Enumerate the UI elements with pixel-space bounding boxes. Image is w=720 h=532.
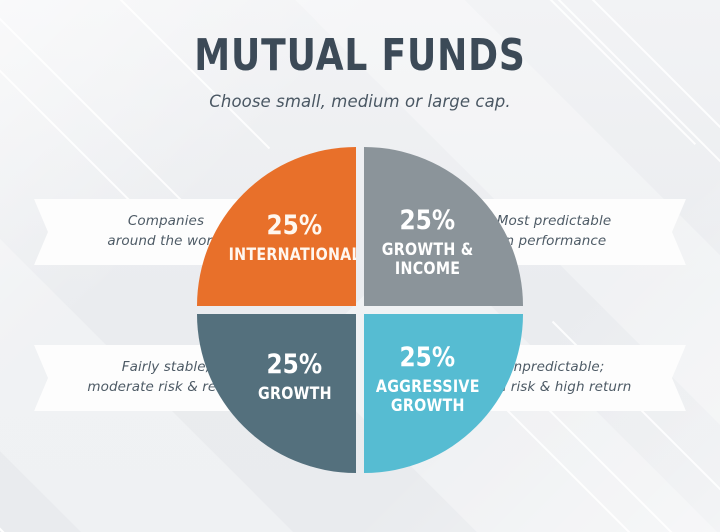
pie-slice-international-percent: 25% xyxy=(267,212,323,239)
pie-slice-international[interactable]: 25% INTERNATIONAL xyxy=(197,147,356,306)
pie-slice-growth-and-income-label: GROWTH & INCOME xyxy=(382,241,474,278)
pie-slice-growth-and-income[interactable]: 25% GROWTH & INCOME xyxy=(364,147,523,306)
pie-slice-aggressive-growth-label: AGGRESSIVE GROWTH xyxy=(376,378,480,415)
pie-slice-international-label: INTERNATIONAL xyxy=(228,246,356,264)
pie-slice-aggressive-growth[interactable]: 25% AGGRESSIVE GROWTH xyxy=(364,314,523,473)
pie-slice-growth-and-income-content: 25% GROWTH & INCOME xyxy=(373,207,482,278)
pie-slice-growth[interactable]: 25% GROWTH xyxy=(197,314,356,473)
pie-slice-aggressive-growth-content: 25% AGGRESSIVE GROWTH xyxy=(366,344,490,415)
pie-slice-growth-percent: 25% xyxy=(267,351,323,378)
page-subtitle: Choose small, medium or large cap. xyxy=(0,92,720,111)
mutual-funds-infographic: MUTUAL FUNDS Choose small, medium or lar… xyxy=(0,0,720,532)
pie-chart: 25% INTERNATIONAL 25% GROWTH & INCOME 25… xyxy=(197,147,523,473)
header: MUTUAL FUNDS Choose small, medium or lar… xyxy=(0,34,720,111)
pie-slice-growth-label: GROWTH xyxy=(258,385,332,403)
pie-slice-growth-content: 25% GROWTH xyxy=(251,351,339,403)
page-title: MUTUAL FUNDS xyxy=(65,34,655,78)
pie-slice-aggressive-growth-percent: 25% xyxy=(400,344,456,371)
pie-slice-growth-and-income-percent: 25% xyxy=(400,207,456,234)
pie-slice-international-content: 25% INTERNATIONAL xyxy=(216,212,356,264)
